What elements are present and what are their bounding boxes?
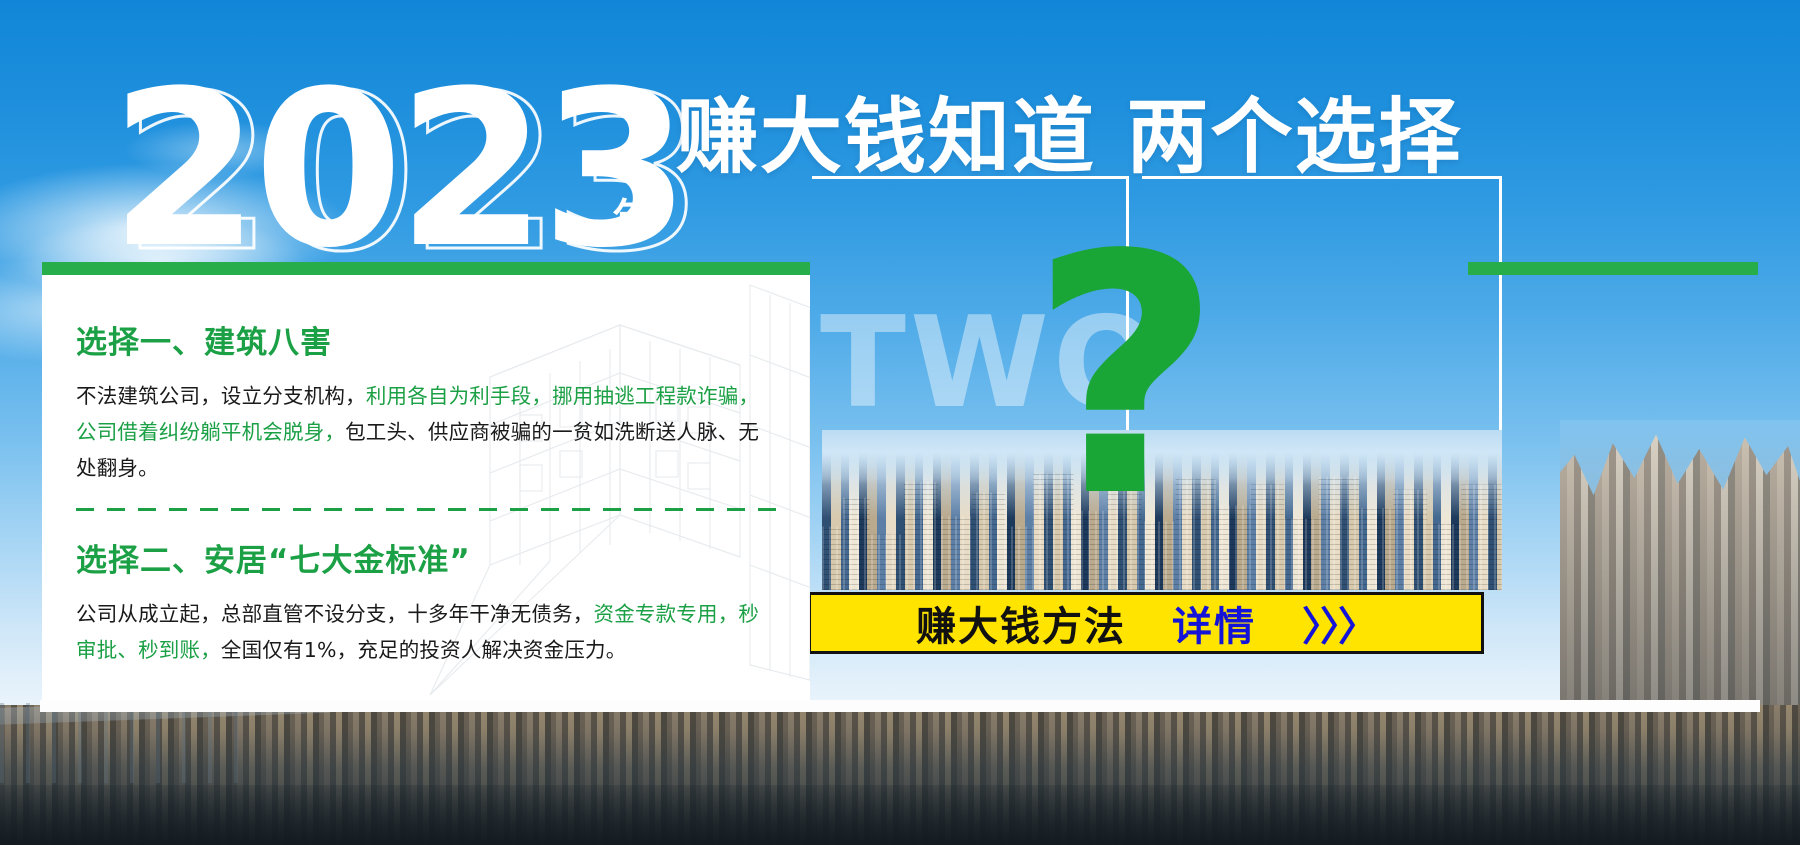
- poster-stage: 2023 2023 年 赚大钱知道 两个选择 TWO CHOICES ? 赚大钱…: [0, 0, 1800, 845]
- chevron-right-icon: 〉〉〉: [1302, 594, 1376, 652]
- section-2-text-plain-b: 全国仅有1%，充足的投资人解决资金压力。: [221, 638, 627, 662]
- bridge-railing-graphic: [0, 703, 250, 783]
- year-suffix-label: 年: [612, 186, 652, 244]
- year-number: 2023: [110, 62, 684, 277]
- bottom-photo-strip: [0, 705, 1800, 845]
- card-top-accent-bar: [42, 262, 810, 275]
- section-title-2: 选择二、安居“七大金标准”: [76, 535, 776, 580]
- right-accent-bar: [1468, 262, 1758, 275]
- right-skyline-shade: [1560, 420, 1800, 710]
- content-card: 选择一、建筑八害 不法建筑公司，设立分支机构，利用各自为利手段，挪用抽逃工程款诈…: [42, 275, 810, 707]
- section-divider: [76, 508, 776, 511]
- cta-link-label[interactable]: 详情: [1172, 594, 1256, 652]
- section-1-text-plain-a: 不法建筑公司，设立分支机构，: [76, 384, 366, 408]
- question-mark-icon: ?: [1030, 212, 1221, 542]
- board-bottom-edge: [40, 700, 1760, 712]
- cta-main-label: 赚大钱方法: [916, 594, 1126, 652]
- headline-rule-left: [812, 176, 1128, 179]
- section-body-1: 不法建筑公司，设立分支机构，利用各自为利手段，挪用抽逃工程款诈骗，公司借着纠纷躺…: [76, 378, 776, 486]
- headline-rule-right: [1142, 176, 1502, 179]
- page-title: 赚大钱知道 两个选择: [676, 70, 1463, 189]
- cta-banner[interactable]: 赚大钱方法 详情 〉〉〉: [808, 592, 1484, 654]
- section-body-2: 公司从成立起，总部直管不设分支，十多年干净无债务，资金专款专用，秒审批、秒到账，…: [76, 596, 776, 668]
- section-2-text-plain-a: 公司从成立起，总部直管不设分支，十多年干净无债务，: [76, 602, 594, 626]
- headline-rule: [812, 176, 1502, 179]
- section-title-1: 选择一、建筑八害: [76, 317, 776, 362]
